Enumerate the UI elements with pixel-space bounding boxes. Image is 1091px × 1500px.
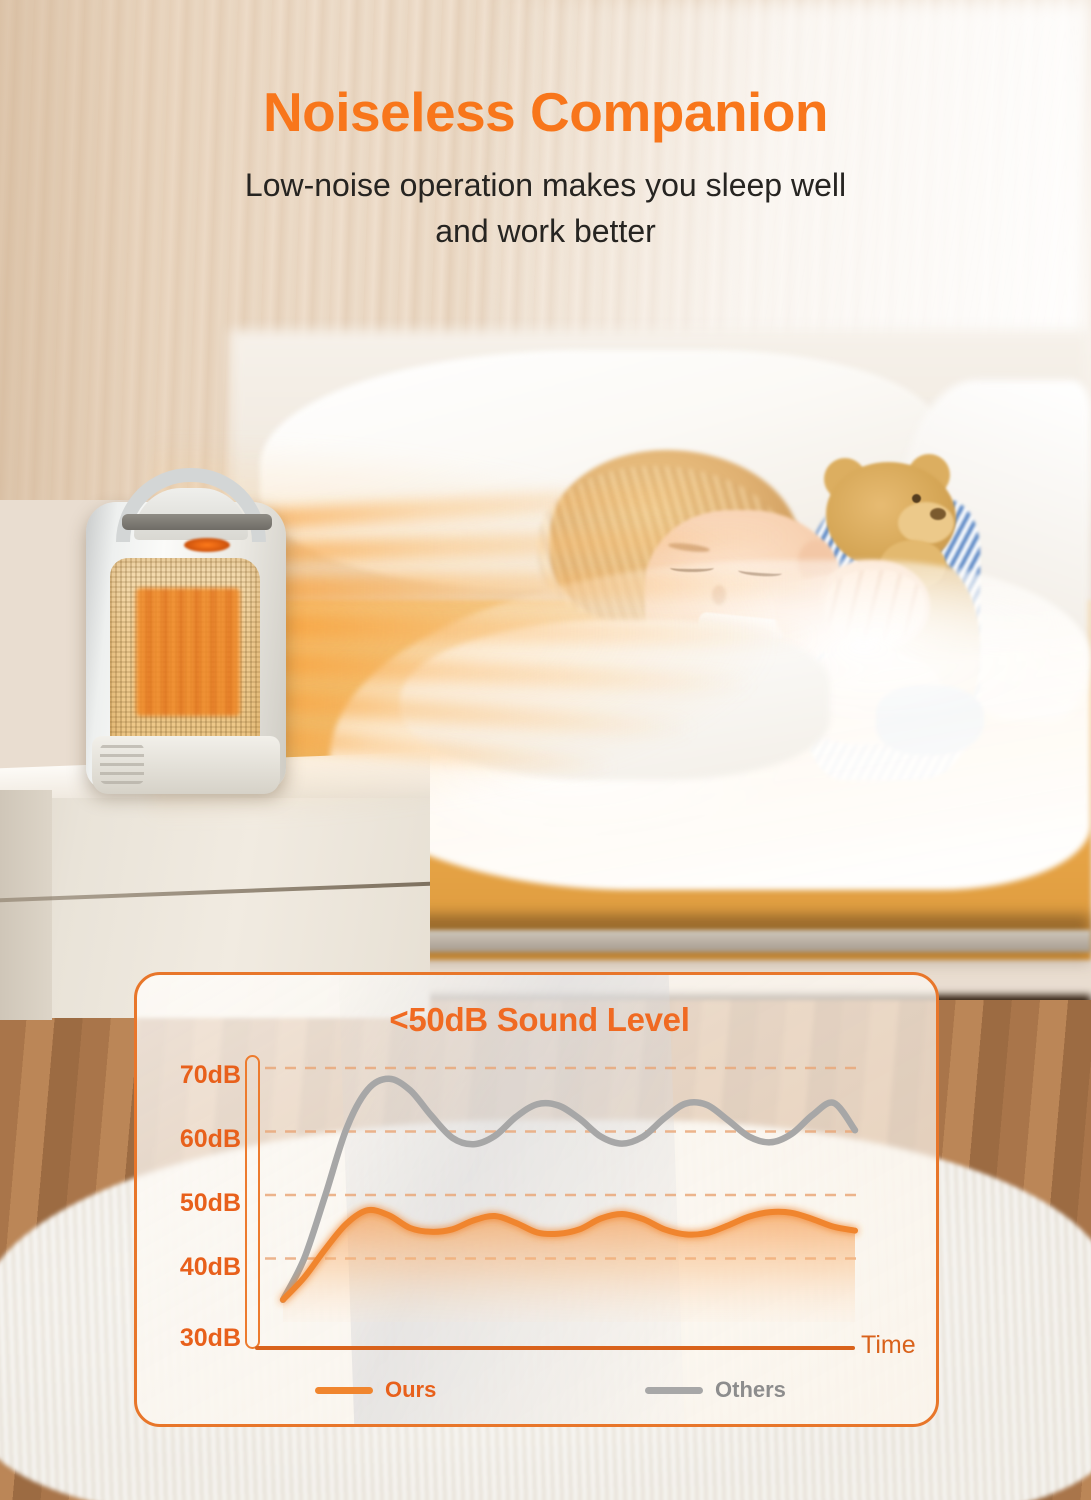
teddy-bear-eye	[912, 494, 921, 503]
page-title: Noiseless Companion	[0, 84, 1091, 142]
legend-label-ours: Ours	[385, 1377, 436, 1403]
sound-level-chart-panel: <50dB Sound Level 70dB 60dB 50dB 40dB 30…	[134, 972, 939, 1427]
legend-item-others[interactable]: Others	[645, 1377, 786, 1403]
legend-label-others: Others	[715, 1377, 786, 1403]
heater-carry-handle	[116, 468, 266, 542]
area-fill-ours	[283, 1210, 855, 1322]
y-tick-40db: 40dB	[155, 1255, 241, 1280]
y-tick-60db: 60dB	[155, 1127, 241, 1152]
x-axis-label-time: Time	[861, 1331, 916, 1360]
pillow-lower	[400, 620, 830, 780]
page-subtitle-line-1: Low-noise operation makes you sleep well	[0, 162, 1091, 208]
y-tick-30db: 30dB	[155, 1326, 241, 1351]
page-subtitle-line-2: and work better	[0, 208, 1091, 254]
page-subtitle: Low-noise operation makes you sleep well…	[0, 162, 1091, 255]
legend-swatch-others-icon	[645, 1387, 703, 1394]
chart-series	[283, 1079, 855, 1322]
headline-block: Noiseless Companion Low-noise operation …	[0, 84, 1091, 255]
teddy-bear-nose	[930, 508, 946, 520]
heater-top-vent	[122, 514, 272, 530]
bed-frame-rail	[380, 930, 1091, 952]
chart-legend: Ours Others	[137, 1377, 939, 1417]
legend-item-ours[interactable]: Ours	[315, 1377, 436, 1403]
y-tick-70db: 70dB	[155, 1063, 241, 1088]
teddy-bear-snout	[898, 502, 954, 544]
nightstand-side	[0, 790, 52, 1020]
y-axis-bar	[245, 1055, 260, 1349]
heater-control-knobs	[100, 744, 144, 784]
x-axis-line	[255, 1346, 855, 1350]
y-tick-50db: 50dB	[155, 1191, 241, 1216]
heater-power-indicator-icon	[184, 538, 230, 552]
legend-swatch-ours-icon	[315, 1387, 373, 1394]
ceramic-space-heater	[78, 466, 293, 796]
heater-glowing-element	[136, 588, 240, 716]
y-axis-tick-labels: 70dB 60dB 50dB 40dB 30dB	[155, 1063, 241, 1363]
